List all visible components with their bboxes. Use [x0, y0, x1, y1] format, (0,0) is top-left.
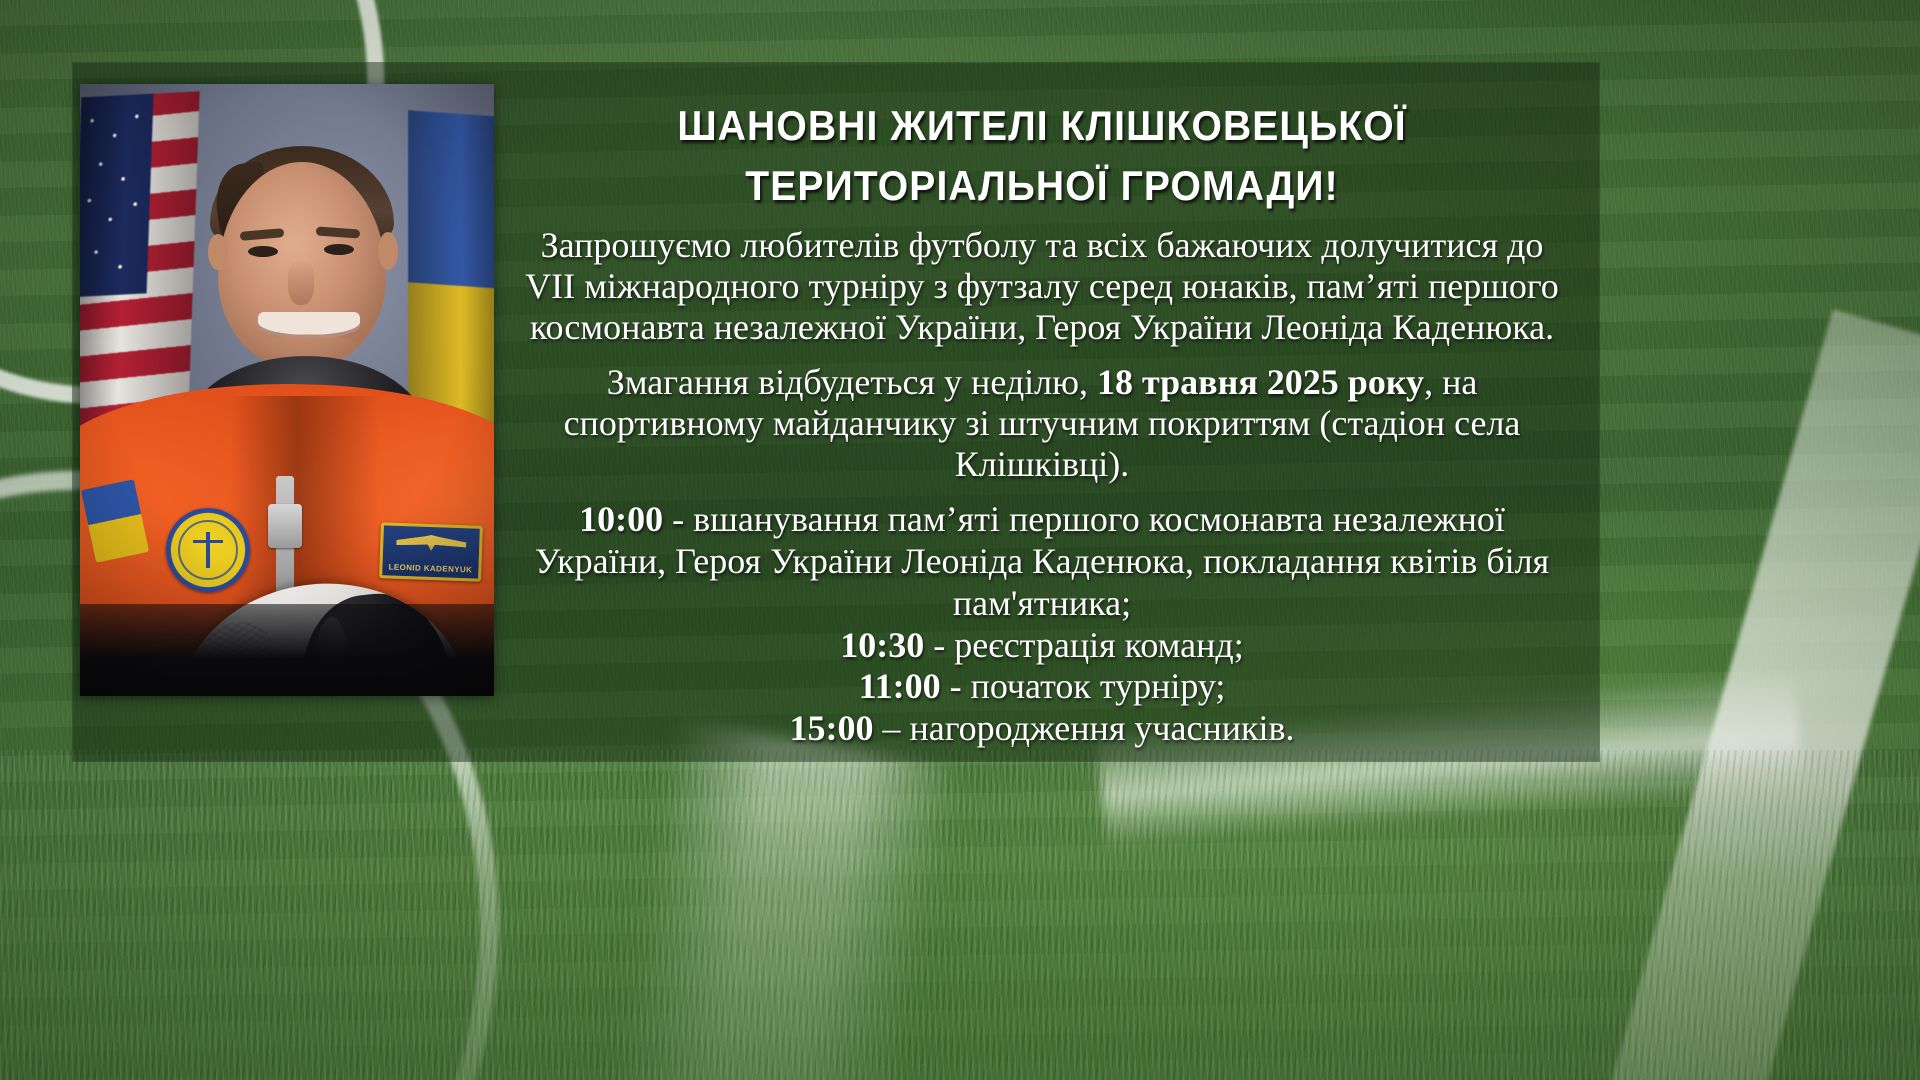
photo-vignette [80, 84, 494, 696]
schedule-item: 10:00 - вшанування пам’яті першого космо… [512, 499, 1572, 624]
schedule-time: 10:30 [840, 625, 924, 665]
event-date: 18 травня 2025 року [1097, 362, 1424, 402]
schedule-dash: - [663, 499, 693, 539]
schedule-list: 10:00 - вшанування пам’яті першого космо… [512, 499, 1572, 750]
poster-root: NASA LEONID KADENYUK ШАНОВНІ ЖИТЕЛІ КЛІШ… [0, 0, 1920, 1080]
schedule-time: 15:00 [790, 708, 874, 748]
schedule-item: 11:00 - початок турніру; [512, 666, 1572, 708]
schedule-dash: - [924, 625, 954, 665]
schedule-item: 10:30 - реєстрація команд; [512, 625, 1572, 667]
poster-title: ШАНОВНІ ЖИТЕЛІ КЛІШКОВЕЦЬКОЇ ТЕРИТОРІАЛЬ… [549, 96, 1535, 215]
title-line-1: ШАНОВНІ ЖИТЕЛІ КЛІШКОВЕЦЬКОЇ [586, 96, 1497, 156]
date-location-paragraph: Змагання відбудеться у неділю, 18 травня… [512, 362, 1572, 485]
schedule-item: 15:00 – нагородження учасників. [512, 708, 1572, 750]
schedule-time: 10:00 [579, 499, 663, 539]
date-paragraph-prefix: Змагання відбудеться у неділю, [607, 362, 1097, 402]
schedule-text: нагородження учасників. [910, 708, 1295, 748]
title-line-2: ТЕРИТОРІАЛЬНОЇ ГРОМАДИ! [586, 156, 1497, 216]
schedule-dash: - [941, 666, 971, 706]
invitation-paragraph: Запрошуємо любителів футболу та всіх баж… [512, 225, 1572, 348]
announcement-content: ШАНОВНІ ЖИТЕЛІ КЛІШКОВЕЦЬКОЇ ТЕРИТОРІАЛЬ… [512, 96, 1572, 750]
schedule-text: початок турніру; [971, 666, 1226, 706]
astronaut-photo: NASA LEONID KADENYUK [80, 84, 494, 696]
schedule-text: реєстрація команд; [954, 625, 1243, 665]
schedule-time: 11:00 [859, 666, 941, 706]
schedule-dash: – [874, 708, 910, 748]
